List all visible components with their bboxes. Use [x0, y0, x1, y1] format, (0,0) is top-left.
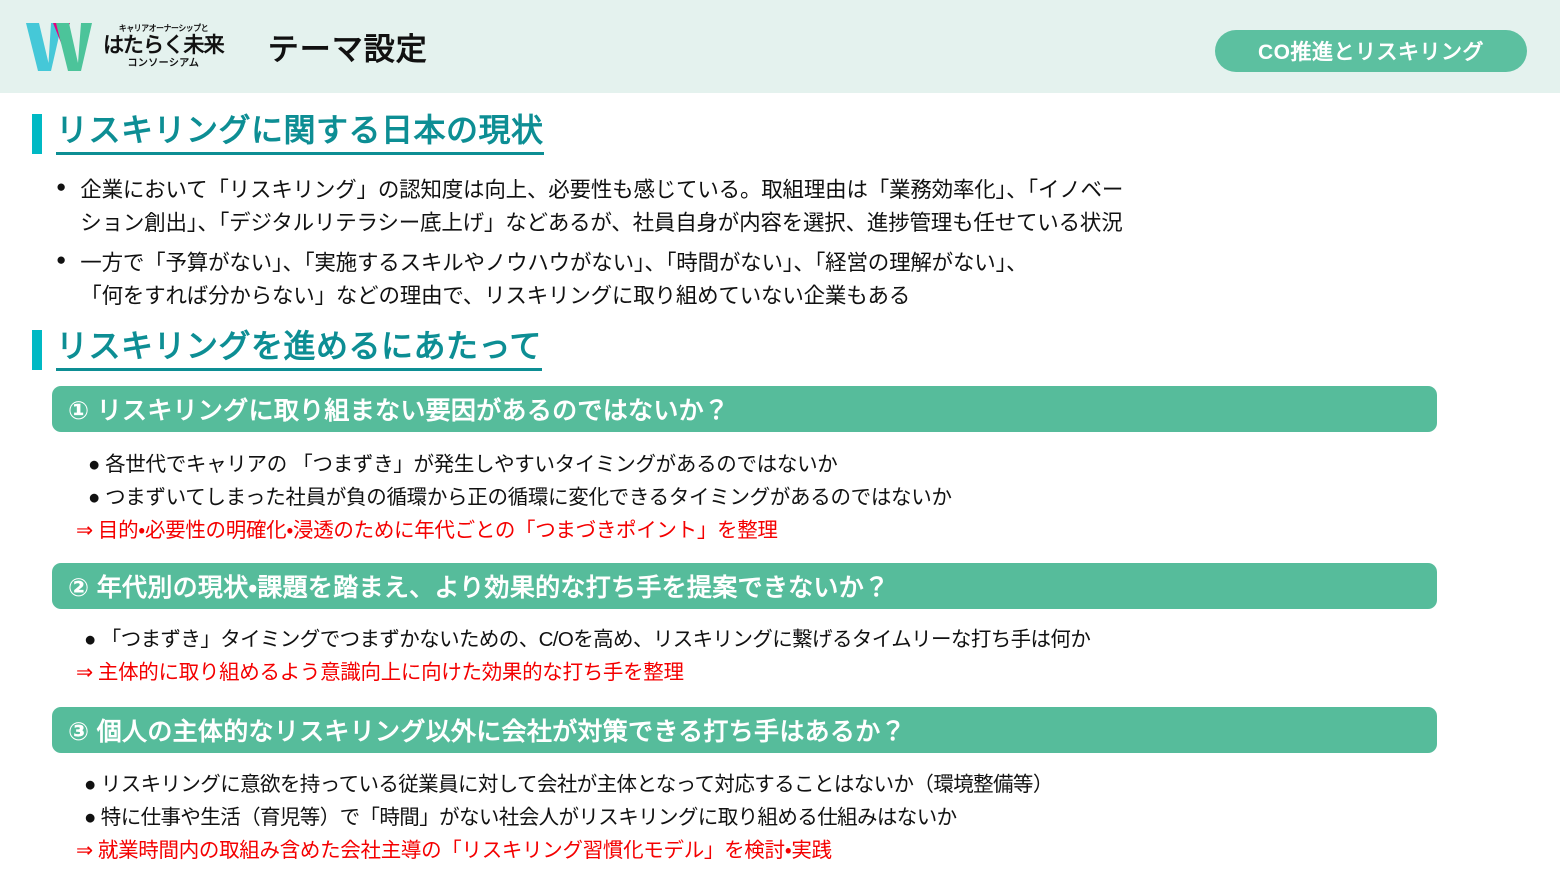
bullet-marker-icon: ●: [88, 486, 100, 509]
conclusion-line: ⇒主体的に取り組めるよう意識向上に向けた効果的な打ち手を整理: [76, 656, 1090, 689]
bullet-item: ● 一方で「予算がない」、「実施するスキルやノウハウがない」、「時間がない」、「…: [56, 247, 1376, 312]
bullet-marker-icon: ●: [84, 806, 96, 829]
question-band-label: ② 年代別の現状・課題を踏まえ、より効果的な打ち手を提案できないか？: [68, 568, 889, 604]
bullet-marker-icon: ●: [84, 773, 96, 796]
page-header: キャリアオーナーシップと はたらく未来 コンソーシアム テーマ設定 CO推進とリ…: [0, 0, 1560, 93]
sub-bullet-line: ●各世代でキャリアの 「つまずき」が発生しやすいタイミングがあるのではないか: [88, 448, 952, 481]
question-1-points: ●各世代でキャリアの 「つまずき」が発生しやすいタイミングがあるのではないか ●…: [88, 448, 952, 548]
section-heading-moving-forward: リスキリングを進めるにあたって: [32, 328, 542, 371]
sub-bullet-line: ●特に仕事や生活（育児等）で「時間」がない社会人がリスキリングに取り組める仕組み…: [84, 801, 1053, 834]
logo-wordmark: キャリアオーナーシップと はたらく未来 コンソーシアム: [103, 24, 224, 69]
conclusion-text: 目的・必要性の明確化・浸透のために年代ごとの「つまづきポイント」を整理: [98, 519, 778, 542]
arrow-marker-icon: ⇒: [76, 839, 93, 862]
topic-badge: CO推進とリスキリング: [1215, 30, 1527, 72]
w-logo-icon: [26, 21, 94, 73]
logo-sub-text: コンソーシアム: [127, 59, 199, 69]
conclusion-line: ⇒就業時間内の取組み含めた会社主導の「リスキリング習慣化モデル」を検討・実践: [76, 834, 1053, 867]
section-heading-current-state: リスキリングに関する日本の現状: [32, 112, 544, 155]
heading-accent-bar: [32, 330, 42, 370]
question-band-label: ③ 個人の主体的なリスキリング以外に会社が対策できる打ち手はあるか？: [68, 712, 906, 748]
page-title: テーマ設定: [268, 24, 428, 69]
consortium-logo: キャリアオーナーシップと はたらく未来 コンソーシアム: [26, 21, 224, 73]
bullet-marker-icon: ●: [56, 174, 66, 200]
conclusion-text: 主体的に取り組めるよう意識向上に向けた効果的な打ち手を整理: [98, 661, 684, 684]
sub-bullet-text: つまずいてしまった社員が負の循環から正の循環に変化できるタイミングがあるのではな…: [105, 486, 952, 509]
question-band-2[interactable]: ② 年代別の現状・課題を踏まえ、より効果的な打ち手を提案できないか？: [52, 563, 1437, 609]
conclusion-line: ⇒目的・必要性の明確化・浸透のために年代ごとの「つまづきポイント」を整理: [76, 514, 952, 547]
bullet-text: 企業において「リスキリング」の認知度は向上、必要性も感じている。取組理由は「業務…: [80, 174, 1123, 239]
logo-tagline: キャリアオーナーシップと: [119, 24, 208, 33]
bullet-marker-icon: ●: [56, 247, 66, 273]
conclusion-text: 就業時間内の取組み含めた会社主導の「リスキリング習慣化モデル」を検討・実践: [98, 839, 832, 862]
question-band-1[interactable]: ① リスキリングに取り組まない要因があるのではないか？: [52, 386, 1437, 432]
sub-bullet-line: ●リスキリングに意欲を持っている従業員に対して会社が主体となって対応することはな…: [84, 768, 1053, 801]
arrow-marker-icon: ⇒: [76, 519, 93, 542]
arrow-marker-icon: ⇒: [76, 661, 93, 684]
question-3-points: ●リスキリングに意欲を持っている従業員に対して会社が主体となって対応することはな…: [84, 768, 1053, 868]
bullet-marker-icon: ●: [88, 453, 100, 476]
sub-bullet-line: ●つまずいてしまった社員が負の循環から正の循環に変化できるタイミングがあるのでは…: [88, 481, 952, 514]
question-2-points: ●「つまずき」タイミングでつまずかないための、C/Oを高め、リスキリングに繋げる…: [84, 623, 1090, 689]
question-band-label: ① リスキリングに取り組まない要因があるのではないか？: [68, 391, 729, 427]
bullet-text: 一方で「予算がない」、「実施するスキルやノウハウがない」、「時間がない」、「経営…: [80, 247, 1027, 312]
section-title-text: リスキリングに関する日本の現状: [56, 112, 544, 155]
sub-bullet-text: リスキリングに意欲を持っている従業員に対して会社が主体となって対応することはない…: [101, 773, 1053, 796]
heading-accent-bar: [32, 114, 42, 154]
sub-bullet-text: 各世代でキャリアの 「つまずき」が発生しやすいタイミングがあるのではないか: [105, 453, 837, 476]
bullet-marker-icon: ●: [84, 628, 96, 651]
question-band-3[interactable]: ③ 個人の主体的なリスキリング以外に会社が対策できる打ち手はあるか？: [52, 707, 1437, 753]
logo-main-text: はたらく未来: [103, 35, 224, 56]
bullet-item: ● 企業において「リスキリング」の認知度は向上、必要性も感じている。取組理由は「…: [56, 174, 1376, 239]
sub-bullet-text: 特に仕事や生活（育児等）で「時間」がない社会人がリスキリングに取り組める仕組みは…: [101, 806, 957, 829]
sub-bullet-text: 「つまずき」タイミングでつまずかないための、C/Oを高め、リスキリングに繋げるタ…: [101, 628, 1090, 651]
section-title-text: リスキリングを進めるにあたって: [56, 328, 542, 371]
sub-bullet-line: ●「つまずき」タイミングでつまずかないための、C/Oを高め、リスキリングに繋げる…: [84, 623, 1090, 656]
